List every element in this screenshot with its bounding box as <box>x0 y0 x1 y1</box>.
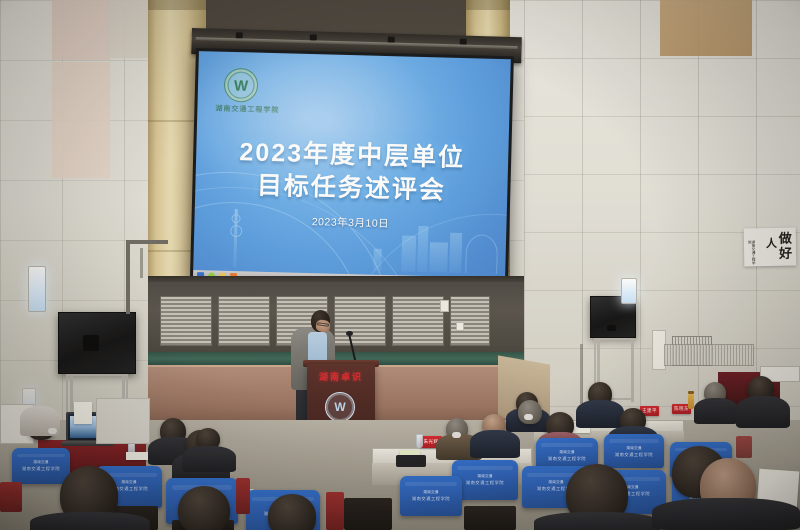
building-icon <box>373 249 382 271</box>
water-cup <box>416 434 423 448</box>
wall-louver-panel <box>392 296 444 346</box>
audience-shoulders <box>694 398 738 424</box>
beverage-bottle <box>688 394 694 409</box>
face-mask <box>452 432 461 438</box>
building-icon <box>429 242 448 272</box>
chair-seat-pad <box>736 436 752 458</box>
chair-logo: 湖南交通 湖南交通工程学院 <box>548 450 586 462</box>
chair-logo-line2: 湖南交通工程学院 <box>615 452 653 458</box>
audience-chair[interactable]: 湖南交通 湖南交通工程学院 <box>604 434 664 468</box>
wall-light-right <box>621 278 637 304</box>
face-mask <box>524 414 533 420</box>
tower-sphere-icon <box>231 214 240 223</box>
back-window-grille <box>664 344 754 366</box>
chair-logo-line1: 湖南交通 <box>22 460 60 465</box>
wall-louver-panel <box>218 296 270 346</box>
housing-bolt <box>236 32 243 38</box>
chair-logo: 湖南交通 湖南交通工程学院 <box>466 474 504 486</box>
chair-logo: 湖南交通 湖南交通工程学院 <box>615 446 653 458</box>
university-logo-icon: W <box>224 68 259 103</box>
document-paper <box>126 452 148 460</box>
audience-chair[interactable]: 湖南交通 湖南交通工程学院 <box>400 476 462 516</box>
wall-conduit <box>126 240 130 314</box>
podium-emblem-icon: W <box>325 392 355 422</box>
logo-caption: 湖南交通工程学院 <box>215 104 279 116</box>
microphone-head <box>346 331 353 336</box>
housing-rail <box>196 37 518 49</box>
chair-logo-line1: 湖南交通 <box>548 450 586 455</box>
chair-logo-line2: 湖南交通工程学院 <box>412 496 450 502</box>
arch-icon <box>465 234 498 274</box>
foreground-shoulders <box>30 512 150 530</box>
name-tent-label: 王建平 <box>642 408 657 414</box>
face-mask <box>48 428 57 434</box>
building-icon <box>401 235 416 271</box>
wall-conduit <box>126 240 168 244</box>
building-icon <box>449 233 462 273</box>
chair-base <box>464 506 516 530</box>
speaker-port <box>83 335 99 351</box>
housing-bolt <box>388 36 395 42</box>
audience-head <box>518 400 542 424</box>
chair-seat-pad <box>236 478 250 514</box>
chair-logo: 湖南交通 湖南交通工程学院 <box>22 460 60 472</box>
logo-mark: W <box>234 78 249 93</box>
housing-bolt <box>310 34 317 40</box>
calligraphy-scroll: 做 好 人 湖南交通工程学院 <box>744 228 797 267</box>
column-cap <box>148 0 206 10</box>
doorway <box>96 398 150 444</box>
foreground-shoulders <box>534 512 660 530</box>
accent-tile <box>52 62 110 178</box>
scroll-char-3: 人 <box>766 239 777 250</box>
stand-leg <box>631 338 634 402</box>
wall-outlet[interactable] <box>456 322 464 331</box>
audience-shoulders <box>470 430 520 458</box>
chair-base <box>344 498 392 530</box>
wall-poster <box>74 402 92 424</box>
laptop-bag <box>396 455 426 467</box>
name-tent-label: 陈晓东 <box>674 406 689 412</box>
conference-hall-photo: W 湖南交通工程学院 2023年度中层单位 目标任务述评会 2023年3月10日 <box>0 0 800 530</box>
chair-logo: 湖南交通 湖南交通工程学院 <box>412 490 450 502</box>
audience-shoulders <box>736 396 790 428</box>
projected-slide: W 湖南交通工程学院 2023年度中层单位 目标任务述评会 2023年3月10日 <box>193 51 511 288</box>
scroll-char-2: 好 <box>779 247 792 260</box>
scroll-caption: 湖南交通工程学院 <box>748 240 755 266</box>
podium-emblem-mark: W <box>334 401 345 413</box>
bottle-cap <box>688 391 694 394</box>
audience-shoulders <box>182 446 236 472</box>
chair-logo-line2: 湖南交通工程学院 <box>22 466 60 472</box>
wall-louver-panel <box>450 296 490 346</box>
slide-title: 2023年度中层单位 目标任务述评会 <box>195 135 509 209</box>
wood-wall-panel <box>660 0 752 56</box>
accent-tile <box>52 0 110 60</box>
audience-shoulders <box>576 400 624 428</box>
wall-conduit <box>140 248 143 278</box>
audience-chair[interactable]: 湖南交通 湖南交通工程学院 <box>12 448 70 484</box>
scroll-char-1: 做 <box>779 232 792 245</box>
wall-switch-plate[interactable] <box>440 300 449 312</box>
chair-logo-line1: 湖南交通 <box>615 446 653 451</box>
foreground-shoulders <box>652 498 800 530</box>
chair-logo-line2: 湖南交通工程学院 <box>548 456 586 462</box>
wall-louver-panel <box>160 296 212 346</box>
chair-logo-line1: 湖南交通 <box>412 490 450 495</box>
building-icon <box>417 226 428 272</box>
wall-louver-panel <box>334 296 386 346</box>
accent-tile <box>108 0 148 58</box>
tower-sphere-icon <box>230 225 242 237</box>
chair-logo-line2: 湖南交通工程学院 <box>466 480 504 486</box>
column-cap <box>466 0 510 10</box>
wall-light-left <box>28 266 46 312</box>
housing-bolt <box>460 38 467 44</box>
chair-seat-pad <box>326 492 344 530</box>
loudspeaker-left <box>58 312 136 374</box>
slide-city-silhouette <box>193 204 507 274</box>
speaker-port <box>607 325 616 331</box>
foreground-head <box>178 486 230 530</box>
chair-logo-line1: 湖南交通 <box>466 474 504 479</box>
projection-screen: W 湖南交通工程学院 2023年度中层单位 目标任务述评会 2023年3月10日 <box>190 48 514 291</box>
speaker-cable <box>580 344 583 404</box>
podium-calligraphy: 湖南卓识 <box>311 370 371 383</box>
chair-seat-pad <box>0 482 22 512</box>
foreground-head <box>268 494 316 530</box>
